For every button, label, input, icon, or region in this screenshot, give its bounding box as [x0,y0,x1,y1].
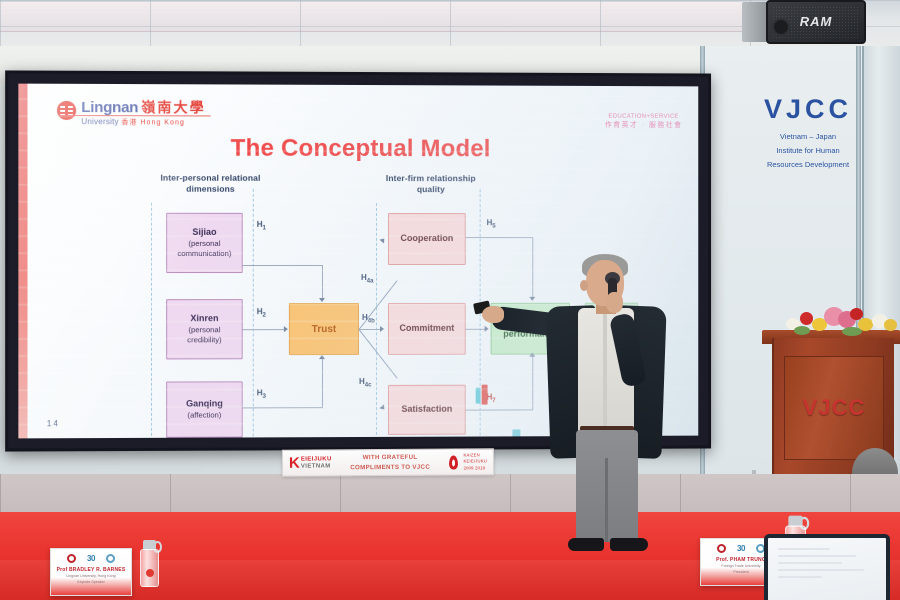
node-satisfaction[interactable]: Satisfaction [388,385,466,435]
vjcc-line-2: Institute for Human [742,144,874,158]
node-sijiao-sub1: (personal [189,239,221,249]
namecard-left-role-line1: Lingnan University, Hong Kong [66,574,115,580]
foliage [842,327,862,336]
node-satisfaction-title: Satisfaction [401,404,452,416]
node-trust[interactable]: Trust [289,303,359,355]
content-line [778,576,822,578]
connector-cooperation-performance [466,237,534,238]
speaker-mount-bracket [742,2,768,42]
lingnan-chinese: 嶺南大學 [141,99,206,115]
decor-chip [476,388,481,404]
namecard-right-name: Prof. PHAM TRUNG [716,557,766,563]
connector-commitment-performance [466,329,486,330]
arrowhead-into-trust-top [319,298,325,302]
hypothesis-label-h7: H7 [487,393,496,405]
slide-page-number: 14 [47,419,60,428]
anniversary-logo: 30 [737,544,745,553]
slide-title: The Conceptual Model [18,134,698,164]
column-heading-interpersonal: Inter-personal relational dimensions [140,173,281,196]
content-line [778,548,830,550]
namecard-right-role-line1: Foreign Trade University [721,564,760,570]
hypothesis-label-h4a: H4a [361,273,373,285]
bottle-logo-dot [146,569,154,577]
dashed-divider [151,203,152,436]
presenter-right-hand [606,292,623,313]
connector-xinren-trust [243,329,285,330]
h1-sub: 1 [263,226,266,232]
node-xinren-sub1: (personal [189,325,221,335]
dashed-divider [253,189,254,439]
arrowhead-into-trust-bottom [319,355,325,359]
flower [884,319,897,331]
laptop-screen[interactable] [764,534,890,600]
presenter [500,248,705,568]
podium-vjcc-label: VJCC [784,395,884,421]
node-sijiao[interactable]: Sijiao (personal communication) [166,213,243,273]
content-line [778,555,856,557]
namecard-left: 30 Prof BRADLEY R. BARNES Lingnan Univer… [50,548,132,596]
h4c-sub: 4c [365,383,372,389]
h5-sub: 5 [492,224,495,230]
keieijuku-k-mark: K [289,456,300,471]
education-service-line1: EDUCATION+SERVICE [605,114,683,122]
education-service-line2: 作育英才 · 服務社會 [605,121,683,130]
node-sijiao-sub2: communication) [177,249,231,259]
namecard-right-logos: 30 [717,544,765,553]
arrowhead-into-trust-left [284,326,288,332]
arrowhead-into-cooperation [379,237,386,244]
hypothesis-label-h4b: H4b [362,313,375,325]
keieijuku-logo: K EIEIJUKU VIETNAM [289,455,332,470]
arrowhead-into-commitment [380,326,384,332]
hypothesis-label-h1: H1 [257,220,266,232]
floral-arrangement [780,302,900,336]
node-xinren-sub2: credibility) [187,335,221,345]
presenter-left-hand [482,306,504,323]
node-ganqing[interactable]: Ganqing (affection) [166,381,243,437]
col-head-left-line2: dimensions [140,184,281,196]
node-commitment[interactable]: Commitment [388,303,466,355]
connector-ganqing-trust-v [322,359,323,407]
namecard-left-role: Lingnan University, Hong Kong Keynote Sp… [66,574,115,586]
education-service-logo: EDUCATION+SERVICE 作育英才 · 服務社會 [605,114,683,130]
decor-chip [482,385,488,405]
lingnan-subtitle: University [81,117,119,126]
flame-icon [448,455,457,469]
laptop-screen-content [778,548,864,583]
dashed-divider [376,203,377,435]
hypothesis-label-h2: H2 [257,307,266,319]
water-bottle-left [140,540,159,587]
hypothesis-label-h4c: H4c [359,377,371,389]
node-cooperation-title: Cooperation [400,233,453,245]
namecard-left-logos: 30 [67,554,115,563]
partner-seal-icon [106,554,115,563]
lingnan-emblem-icon [57,101,76,120]
h3-sub: 3 [263,394,266,400]
presenter-right-shoe [610,538,648,551]
node-xinren-title: Xinren [190,313,218,325]
presenter-leg-split [605,458,608,542]
banner-message-line2: COMPLIMENTS TO VJCC [338,462,443,472]
namecard-left-role-line2: Keynote Speaker [66,580,115,586]
vjcc-line-3: Resources Development [742,158,874,172]
col-head-right-line1: Inter-firm relationship [361,173,501,185]
presenter-ear [580,280,588,291]
university-seal-icon [717,544,726,553]
hypothesis-label-h3: H3 [257,388,266,400]
h4b-sub: 4b [368,319,375,325]
h2-sub: 2 [263,313,266,319]
namecard-right-role: Foreign Trade University President [721,564,760,576]
h4a-sub: 4a [367,279,374,285]
presentation-hall-scene: RAM VJCC Vietnam – Japan Institute for H… [0,0,900,600]
node-trust-title: Trust [312,323,336,336]
namecard-right-role-line2: President [721,570,760,576]
anniversary-logo: 30 [87,554,95,563]
university-seal-icon [67,554,76,563]
kaizen-line3: 2009 2019 [464,465,487,471]
lingnan-sub-chinese: 香港 Hong Kong [121,119,185,126]
h7-sub: 7 [492,398,495,404]
stage-skirting-seams [0,474,900,514]
hypothesis-label-h5: H5 [487,218,496,230]
kaizen-anniversary-mark: KAIZEN KEIEIJUKU 2009 2019 [463,452,487,471]
speaker-cone-icon [772,18,790,36]
connector-sijiao-trust [243,265,323,266]
presenter-left-shoe [568,538,604,551]
sponsor-banner: K EIEIJUKU VIETNAM WITH GRATEFUL COMPLIM… [282,448,494,476]
connector-ganqing-trust [243,407,323,408]
col-head-left-line1: Inter-personal relational [140,173,281,185]
node-ganqing-sub1: (affection) [188,410,222,420]
lingnan-university-logo: Lingnan嶺南大學 University 香港 Hong Kong [57,100,206,127]
connector-trust-commitment [359,329,381,330]
node-cooperation[interactable]: Cooperation [388,213,466,265]
keieijuku-brand: EIEIJUKU [301,457,332,464]
banner-message: WITH GRATEFUL COMPLIMENTS TO VJCC [338,453,443,472]
node-commitment-title: Commitment [399,323,454,335]
vjcc-acronym: VJCC [742,96,874,123]
connector-sijiao-trust-v [322,265,323,301]
namecard-left-name: Prof BRADLEY R. BARNES [57,567,126,573]
arrowhead-into-satisfaction [379,404,386,411]
kaizen-line2: KEIEIJUKU [464,459,487,465]
vjcc-wall-signage: VJCC Vietnam – Japan Institute for Human… [742,96,874,172]
arrowhead-performance-left [485,326,489,332]
node-xinren[interactable]: Xinren (personal credibility) [166,299,243,359]
lingnan-name: Lingnan [81,99,138,116]
content-line [778,569,864,571]
keieijuku-country: VIETNAM [301,463,332,470]
node-ganqing-title: Ganqing [186,399,223,411]
node-sijiao-title: Sijiao [192,227,216,239]
foliage [794,326,810,335]
presenter-shirt-placket [603,310,607,428]
vjcc-line-1: Vietnam – Japan [742,130,874,144]
content-line [778,562,842,564]
bottle-body [140,549,159,587]
